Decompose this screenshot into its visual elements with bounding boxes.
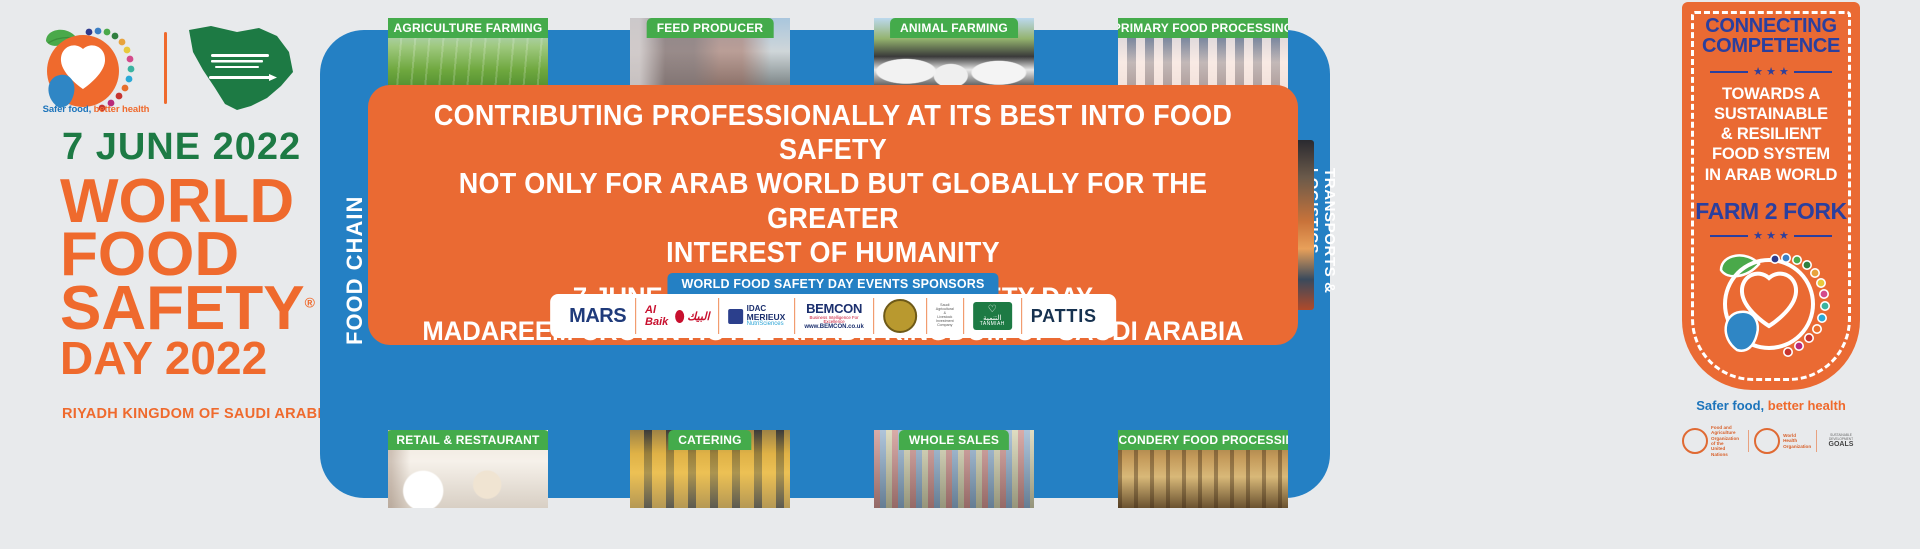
- right-panel: CONNECTING COMPETENCE ★ ★ ★ TOWARDS A SU…: [1682, 2, 1860, 390]
- main-message-card: CONTRIBUTING PROFESSIONALLY AT ITS BEST …: [368, 85, 1298, 345]
- right-tagline-better: better health: [1764, 398, 1846, 413]
- fao-logo: Food and Agriculture Organization of the…: [1682, 425, 1743, 457]
- organization-logos: Food and Agriculture Organization of the…: [1682, 418, 1860, 464]
- sponsor-tanmiah[interactable]: ♡ التنمية TANMIAH: [964, 298, 1022, 334]
- sponsor-pattis-label: PATTIS: [1031, 306, 1097, 327]
- fao-line2: Organization of the: [1711, 436, 1739, 446]
- sponsor-bemcon-logo-icon: BEMCON Business Intelligence For Excelle…: [804, 302, 863, 331]
- stars-glyph-2: ★ ★ ★: [1753, 231, 1789, 242]
- body-line-3: & RESILIENT: [1688, 124, 1854, 144]
- sponsor-idac-logo-icon: IDAC MERIEUX NutriSciences: [729, 305, 786, 328]
- star-divider-top: ★ ★ ★: [1710, 66, 1832, 78]
- sponsor-mars-label: MARS: [569, 305, 626, 328]
- body-line-2: SUSTAINABLE: [1688, 104, 1854, 124]
- tile-label-whole-sales: WHOLE SALES: [899, 430, 1009, 450]
- registered-mark: ®: [305, 294, 315, 310]
- headline-line-2: NOT ONLY FOR ARAB WORLD BUT GLOBALLY FOR…: [419, 167, 1247, 235]
- logo-row: [28, 18, 328, 118]
- page-title: WORLD FOOD SAFETY® DAY 2022: [60, 175, 340, 378]
- sponsor-saudi-agri-logo-icon: Saudi Agricultural & Livestock Investmen…: [936, 304, 954, 328]
- sponsor-bemcon[interactable]: BEMCON Business Intelligence For Excelle…: [795, 298, 873, 334]
- sponsor-mars[interactable]: MARS: [560, 298, 636, 334]
- tile-label-agriculture-farming: AGRICULTURE FARMING: [388, 18, 548, 38]
- sponsor-idac-line3: NutriSciences: [747, 321, 786, 327]
- tile-retail-restaurant: RETAIL & RESTAURANT: [388, 430, 548, 508]
- headline-line-3: INTEREST OF HUMANITY: [419, 236, 1247, 270]
- divider-line-right-2: [1794, 235, 1832, 238]
- right-tagline-safer: Safer food,: [1696, 398, 1764, 413]
- tile-label-retail-restaurant: RETAIL & RESTAURANT: [388, 430, 548, 450]
- sponsor-idac-merieux[interactable]: IDAC MERIEUX NutriSciences: [720, 298, 796, 334]
- fao-emblem-icon: [1682, 428, 1708, 454]
- org-divider-1: [1748, 430, 1749, 452]
- body-line-4: FOOD SYSTEM: [1688, 144, 1854, 164]
- tile-primary-food-processing: PRIMARY FOOD PROCESSING: [1118, 18, 1288, 92]
- title-competence: COMPETENCE: [1682, 36, 1860, 56]
- headline-line-1: CONTRIBUTING PROFESSIONALLY AT ITS BEST …: [419, 99, 1247, 167]
- world-food-safety-day-banner: Safer food, better health 7 JUNE 2022 WO…: [0, 0, 1920, 549]
- sponsor-bemcon-line3: www.BEMCON.co.uk: [804, 324, 863, 330]
- who-line2: Organization: [1783, 444, 1811, 449]
- who-line1: World Health: [1783, 433, 1797, 443]
- title-connecting: CONNECTING: [1682, 16, 1860, 36]
- connecting-competence-title: CONNECTING COMPETENCE: [1682, 16, 1860, 56]
- tile-agriculture-farming: AGRICULTURE FARMING: [388, 18, 548, 92]
- who-emblem-icon: [1754, 428, 1780, 454]
- farm-2-fork-label: FARM 2 FORK: [1682, 198, 1860, 225]
- sponsor-saudi-agri-text: Saudi Agricultural & Livestock Investmen…: [936, 304, 954, 328]
- star-divider-bottom: ★ ★ ★: [1710, 230, 1832, 242]
- stars-glyph: ★ ★ ★: [1753, 67, 1789, 78]
- logo-divider: [164, 32, 167, 104]
- sponsor-idac-line2: MERIEUX: [747, 313, 786, 322]
- tile-feed-producer: FEED PRODUCER: [630, 18, 790, 92]
- sponsor-pattis[interactable]: PATTIS: [1022, 298, 1106, 334]
- sponsor-albaik[interactable]: Al Baikالبيك: [636, 298, 720, 334]
- event-date: 7 JUNE 2022: [62, 128, 301, 166]
- tile-whole-sales: WHOLE SALES: [874, 430, 1034, 508]
- sponsors-strip: MARS Al Baikالبيك IDAC MERIEUX NutriScie…: [550, 294, 1116, 338]
- title-safety-text: SAFETY: [60, 274, 305, 343]
- tile-label-secondery-food-processing: SECONDERY FOOD PROCESSING: [1118, 430, 1288, 450]
- saudi-arabia-map-icon: [181, 22, 301, 114]
- sponsor-bemcon-line2: Business Intelligence For Excellence: [804, 316, 863, 325]
- sponsors-title: WORLD FOOD SAFETY DAY EVENTS SPONSORS: [667, 273, 998, 295]
- tile-label-primary-food-processing: PRIMARY FOOD PROCESSING: [1118, 18, 1288, 38]
- sponsor-albaik-logo-icon: Al Baikالبيك: [645, 304, 710, 328]
- sponsor-bemcon-line1: BEMCON: [804, 302, 863, 315]
- fao-text: Food and Agriculture Organization of the…: [1711, 425, 1743, 457]
- fao-line1: Food and Agriculture: [1711, 425, 1736, 435]
- divider-line-left-2: [1710, 235, 1748, 238]
- left-panel: Safer food, better health 7 JUNE 2022 WO…: [0, 0, 340, 549]
- sponsor-tanmiah-logo-icon: ♡ التنمية TANMIAH: [973, 302, 1012, 330]
- logo-tagline: Safer food, better health: [36, 104, 156, 115]
- event-location: RIYADH KINGDOM OF SAUDI ARABIA: [62, 406, 333, 422]
- tile-label-catering: CATERING: [668, 430, 751, 450]
- sdg-goals-text: GOALS: [1822, 441, 1860, 448]
- sdg-logo: SUSTAINABLE DEVELOPMENT GOALS: [1822, 434, 1860, 447]
- body-line-1: TOWARDS A: [1688, 84, 1854, 104]
- food-chain-label: FOOD CHAIN: [338, 150, 372, 390]
- world-food-safety-day-logo-icon: [28, 19, 148, 117]
- tile-label-animal-farming: ANIMAL FARMING: [890, 18, 1018, 38]
- org-divider-2: [1816, 430, 1817, 452]
- sponsor-saudi-agricultural[interactable]: Saudi Agricultural & Livestock Investmen…: [927, 298, 964, 334]
- tagline-safer-food: Safer food,: [43, 104, 92, 115]
- who-logo: World Health Organization: [1754, 428, 1811, 454]
- tile-catering: CATERING: [630, 430, 790, 508]
- tile-animal-farming: ANIMAL FARMING: [874, 18, 1034, 92]
- divider-line-right: [1794, 71, 1832, 74]
- center-section: FOOD CHAIN TRANSPORTS & LOGISTICS AGRICU…: [318, 0, 1358, 549]
- who-text: World Health Organization: [1783, 433, 1811, 449]
- title-line-safety: SAFETY®: [60, 282, 340, 335]
- world-food-safety-day-logo-icon-right: [1701, 242, 1841, 362]
- tagline-better-health: better health: [91, 104, 149, 115]
- sponsor-al-munif[interactable]: [874, 298, 927, 334]
- tile-label-feed-producer: FEED PRODUCER: [647, 18, 774, 38]
- sponsor-tanmiah-english: TANMIAH: [980, 322, 1005, 327]
- right-panel-tagline: Safer food, better health: [1682, 398, 1860, 413]
- fao-line3: United Nations: [1711, 446, 1728, 456]
- tile-secondery-food-processing: SECONDERY FOOD PROCESSING: [1118, 430, 1288, 508]
- sponsor-globe-emblem-icon: [883, 299, 917, 333]
- right-panel-body: TOWARDS A SUSTAINABLE & RESILIENT FOOD S…: [1688, 84, 1854, 185]
- body-line-5: IN ARAB WORLD: [1688, 165, 1854, 185]
- divider-line-left: [1710, 71, 1748, 74]
